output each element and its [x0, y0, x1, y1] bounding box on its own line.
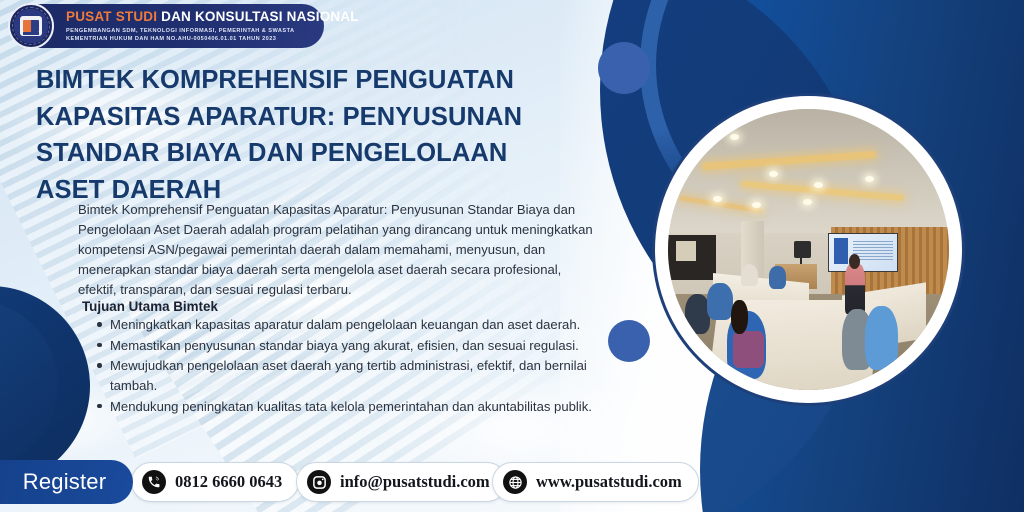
website-url: www.pusatstudi.com — [536, 472, 682, 492]
photo-circle-frame — [655, 96, 962, 403]
photo-attendee-bag — [733, 331, 764, 368]
phone-number: 0812 6660 0643 — [175, 472, 282, 492]
contact-pill-website[interactable]: www.pusatstudi.com — [492, 462, 699, 502]
register-button[interactable]: Register — [0, 460, 133, 504]
brand-subtitle-line1: PENGEMBANGAN SDM, TEKNOLOGI INFORMASI, P… — [66, 27, 359, 35]
globe-icon — [503, 470, 527, 494]
register-button-label: Register — [23, 469, 107, 495]
logo-base-icon — [23, 32, 39, 35]
photo-attendee — [769, 266, 786, 288]
goals-heading: Tujuan Utama Bimtek — [82, 299, 218, 314]
email-address: info@pusatstudi.com — [340, 472, 490, 492]
goal-list-item: Memastikan penyusunan standar biaya yang… — [96, 336, 611, 356]
brand-title-primary: PUSAT STUDI — [66, 9, 161, 24]
brand-subtitle-line2: KEMENTRIAN HUKUM DAN HAM NO.AHU-0050406.… — [66, 35, 359, 43]
photo-downlight — [803, 199, 812, 205]
photo-downlight — [769, 171, 778, 177]
phone-icon — [142, 470, 166, 494]
photo-speaker-box — [794, 241, 811, 258]
brand-title: PUSAT STUDI DAN KONSULTASI NASIONAL — [66, 9, 359, 25]
logo-book-icon — [23, 20, 39, 32]
contact-footer: Register 0812 6660 0643 info@pusatst — [0, 454, 1024, 512]
brand-header-bar: PUSAT STUDI DAN KONSULTASI NASIONAL PENG… — [24, 4, 324, 48]
brand-title-secondary: DAN KONSULTASI NASIONAL — [161, 9, 359, 24]
goal-list-item: Meningkatkan kapasitas aparatur dalam pe… — [96, 315, 611, 335]
photo-attendee-hair — [731, 300, 748, 334]
logo-emblem — [20, 16, 42, 36]
photo-attendee — [865, 306, 899, 371]
photo-panel-square — [676, 241, 696, 261]
contact-pill-email[interactable]: info@pusatstudi.com — [296, 462, 507, 502]
photo-attendee-hijab — [741, 264, 758, 286]
photo-attendee — [707, 283, 732, 320]
organization-logo-icon — [8, 3, 54, 49]
photo-screen-slide-bar — [834, 238, 848, 263]
goal-list-item: Mendukung peningkatan kualitas tata kelo… — [96, 397, 611, 417]
training-session-photo — [668, 109, 949, 390]
contact-pill-phone[interactable]: 0812 6660 0643 — [131, 462, 299, 502]
poster-canvas: PUSAT STUDI DAN KONSULTASI NASIONAL PENG… — [0, 0, 1024, 512]
goals-list: Meningkatkan kapasitas aparatur dalam pe… — [96, 315, 611, 417]
page-title: Bimtek Komprehensif Penguatan Kapasitas … — [36, 62, 581, 209]
instagram-camera-icon — [307, 470, 331, 494]
description-paragraph: Bimtek Komprehensif Penguatan Kapasitas … — [78, 200, 593, 299]
brand-text-group: PUSAT STUDI DAN KONSULTASI NASIONAL PENG… — [66, 9, 359, 44]
photo-ceiling — [668, 109, 949, 238]
photo-presenter — [845, 264, 865, 315]
photo-downlight — [752, 202, 761, 208]
goal-list-item: Mewujudkan pengelolaan aset daerah yang … — [96, 356, 611, 395]
